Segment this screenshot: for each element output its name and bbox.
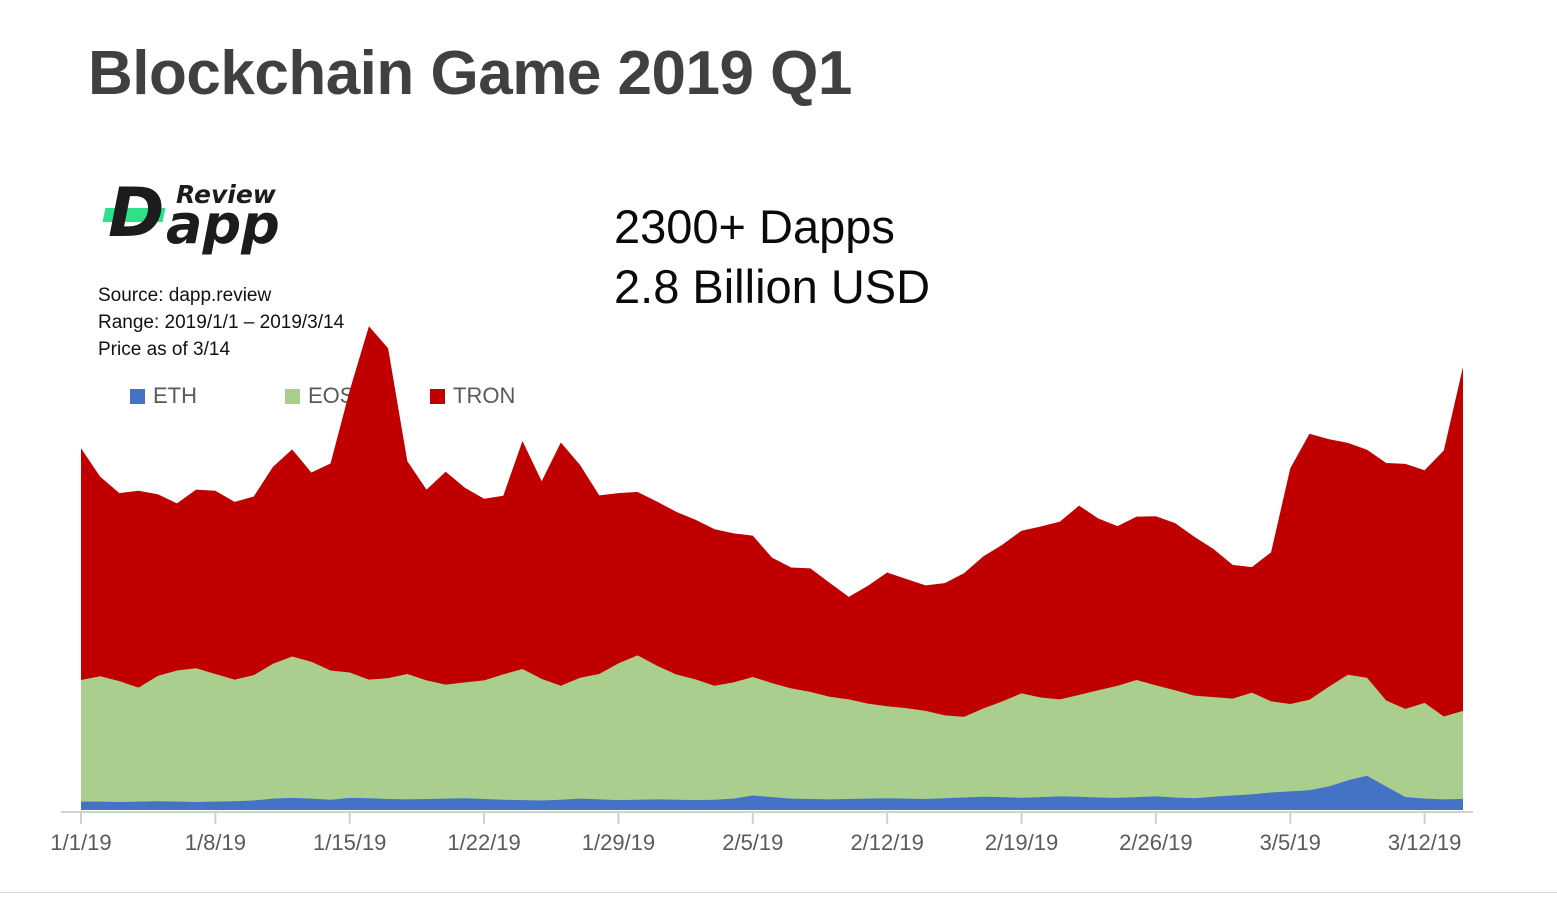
x-axis-tick-label: 1/15/19 xyxy=(313,830,386,855)
bottom-divider xyxy=(0,892,1557,893)
x-axis-tick-label: 3/5/19 xyxy=(1260,830,1321,855)
x-axis-tick-label: 2/26/19 xyxy=(1119,830,1192,855)
x-axis-tick-label: 1/8/19 xyxy=(185,830,246,855)
x-axis-tick-label: 2/5/19 xyxy=(722,830,783,855)
x-axis-tick-label: 1/1/19 xyxy=(50,830,111,855)
x-axis-tick-label: 2/12/19 xyxy=(850,830,923,855)
x-axis-tick-label: 1/29/19 xyxy=(582,830,655,855)
x-axis-tick-label: 2/19/19 xyxy=(985,830,1058,855)
chart-svg: 1/1/191/8/191/15/191/22/191/29/192/5/192… xyxy=(0,0,1557,898)
x-axis-tick-label: 3/12/19 xyxy=(1388,830,1461,855)
slide-root: Blockchain Game 2019 Q1 D app Review Sou… xyxy=(0,0,1557,898)
x-axis-tick-label: 1/22/19 xyxy=(447,830,520,855)
stacked-area-chart: 1/1/191/8/191/15/191/22/191/29/192/5/192… xyxy=(0,0,1557,898)
